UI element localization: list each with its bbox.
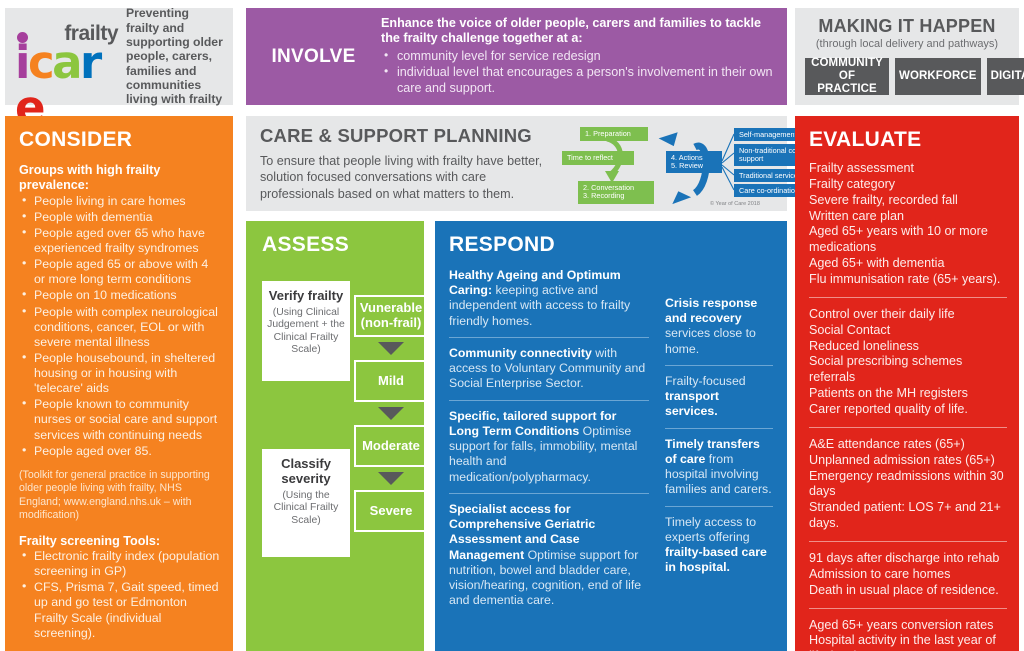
evaluate-group-hospital: A&E attendance rates (65+) Unplanned adm… — [809, 437, 1007, 532]
arrow-down-icon — [378, 407, 404, 420]
list-item: People housebound, in sheltered housing … — [19, 351, 221, 396]
chip-community-of-practice[interactable]: COMMUNITY OF PRACTICE — [805, 58, 889, 95]
list-item: People aged over 85. — [19, 444, 221, 459]
list-item: CFS, Prisma 7, Gait speed, timed up and … — [19, 580, 221, 641]
list-item: People with complex neurological conditi… — [19, 305, 221, 350]
respond-item-timely-transfers: Timely transfers of care from hospital i… — [665, 437, 773, 498]
respond-item-bold: transport services. — [665, 389, 719, 418]
consider-groups-heading: Groups with high frailty prevalence: — [19, 163, 221, 193]
divider — [449, 400, 649, 401]
respond-title: RESPOND — [449, 233, 773, 257]
evaluate-line: Carer reported quality of life. — [809, 402, 1007, 418]
respond-item-bold: Crisis response and recovery — [665, 296, 757, 325]
evaluate-group-discharge: 91 days after discharge into rehab Admis… — [809, 551, 1007, 599]
evaluate-line: Aged 65+ with dementia — [809, 256, 1007, 272]
diagram-copyright: © Year of Care 2018 — [710, 201, 760, 207]
evaluate-group-clinical: Frailty assessment Frailty category Seve… — [809, 161, 1007, 288]
care-support-planning-text: CARE & SUPPORT PLANNING To ensure that p… — [260, 125, 562, 211]
making-it-happen-title: MAKING IT HAPPEN — [805, 16, 1009, 37]
diagram-step-actions-review: 4. Actions 5. Review — [666, 151, 722, 173]
stage-severe: Severe — [354, 490, 428, 532]
list-item: People with dementia — [19, 210, 221, 225]
divider — [665, 428, 773, 429]
stage-vulnerable: Vunerable (non-frail) — [354, 295, 428, 337]
care-support-planning-body: To ensure that people living with frailt… — [260, 153, 560, 202]
respond-item-bold: frailty-based care in hospital. — [665, 545, 767, 574]
evaluate-line: Reduced loneliness — [809, 339, 1007, 355]
list-item: People known to community nurses or soci… — [19, 397, 221, 442]
logo-panel: frailty icare Preventing frailty and sup… — [5, 8, 233, 105]
involve-lead-text: Enhance the voice of older people, carer… — [381, 16, 777, 47]
chip-workforce[interactable]: WORKFORCE — [895, 58, 981, 95]
logo-tagline: Preventing frailty and supporting older … — [126, 6, 225, 107]
involve-bullet: individual level that encourages a perso… — [381, 65, 777, 96]
logo-letter-a: a — [52, 40, 80, 85]
care-support-planning-panel: CARE & SUPPORT PLANNING To ensure that p… — [246, 116, 787, 211]
list-item: People on 10 medications — [19, 288, 221, 303]
evaluate-line: Admission to care homes — [809, 567, 1007, 583]
evaluate-group-conversion: Aged 65+ years conversion rates Hospital… — [809, 618, 1007, 651]
involve-body: Enhance the voice of older people, carer… — [381, 16, 787, 97]
stage-moderate: Moderate — [354, 425, 428, 467]
divider — [809, 608, 1007, 609]
respond-item-healthy-ageing: Healthy Ageing and Optimum Caring: keepi… — [449, 268, 649, 329]
consider-source-note: (Toolkit for general practice in support… — [19, 469, 221, 523]
evaluate-line: Frailty assessment — [809, 161, 1007, 177]
respond-item-text: services close to home. — [665, 326, 756, 355]
list-item: People living in care homes — [19, 194, 221, 209]
list-item: People aged over 65 who have experienced… — [19, 226, 221, 256]
involve-panel: INVOLVE Enhance the voice of older peopl… — [246, 8, 787, 105]
assess-card-title: Verify frailty — [267, 289, 345, 304]
assess-card-subtitle: (Using Clinical Judgement + the Clinical… — [267, 307, 345, 357]
logo-letter-r: r — [80, 40, 100, 85]
evaluate-line: Patients on the MH registers — [809, 386, 1007, 402]
evaluate-line: Severe frailty, recorded fall — [809, 193, 1007, 209]
evaluate-title: EVALUATE — [809, 128, 1007, 152]
involve-bullet: community level for service redesign — [381, 49, 777, 65]
divider — [449, 337, 649, 338]
assess-flow: Verify frailty (Using Clinical Judgement… — [262, 277, 410, 607]
care-planning-cycle-diagram: 1. Preparation Time to reflect 2. Conver… — [562, 125, 787, 211]
respond-item-frailty-based-care: Timely access to experts offering frailt… — [665, 515, 773, 576]
respond-item-pre: Timely access to experts offering — [665, 515, 756, 544]
divider — [809, 541, 1007, 542]
consider-tools-heading: Frailty screening Tools: — [19, 534, 221, 548]
logo-letter-c: c — [28, 40, 52, 85]
evaluate-line: Control over their daily life — [809, 307, 1007, 323]
evaluate-line: Frailty category — [809, 177, 1007, 193]
involve-bullet-list: community level for service redesign ind… — [381, 49, 777, 97]
infographic-page: frailty icare Preventing frailty and sup… — [0, 0, 1024, 651]
evaluate-line: Emergency readmissions within 30 days — [809, 469, 1007, 501]
assess-title: ASSESS — [262, 233, 410, 257]
assess-severity-stages: Vunerable (non-frail) Mild Moderate Seve… — [354, 295, 428, 532]
evaluate-line: Social Contact — [809, 323, 1007, 339]
evaluate-line: A&E attendance rates (65+) — [809, 437, 1007, 453]
respond-panel: RESPOND Healthy Ageing and Optimum Carin… — [435, 221, 787, 651]
divider — [809, 297, 1007, 298]
divider — [809, 427, 1007, 428]
diagram-step-preparation: 1. Preparation — [580, 127, 648, 141]
evaluate-line: Aged 65+ years with 10 or more medicatio… — [809, 224, 1007, 256]
divider — [665, 365, 773, 366]
respond-item-pre: Frailty-focused — [665, 374, 746, 388]
respond-item-bold: Community connectivity — [449, 346, 592, 360]
spacer — [665, 268, 773, 296]
logo-letter-i: i — [15, 40, 28, 85]
respond-column-left: Healthy Ageing and Optimum Caring: keepi… — [449, 268, 649, 608]
evaluate-line: Social prescribing schemes referrals — [809, 354, 1007, 386]
chip-digital[interactable]: DIGITAL — [987, 58, 1024, 95]
respond-item-specialist-access: Specialist access for Comprehensive Geri… — [449, 502, 649, 609]
arrow-down-icon — [378, 342, 404, 355]
assess-card-title: Classify severity — [267, 457, 345, 487]
evaluate-line: Unplanned admission rates (65+) — [809, 453, 1007, 469]
respond-item-long-term-conditions: Specific, tailored support for Long Term… — [449, 409, 649, 485]
diagram-step-conversation-recording: 2. Conversation 3. Recording — [578, 181, 654, 204]
consider-panel: CONSIDER Groups with high frailty preval… — [5, 116, 233, 651]
respond-column-right: Crisis response and recovery services cl… — [665, 268, 773, 608]
consider-tools-list: Electronic frailty index (population scr… — [19, 549, 221, 641]
consider-title: CONSIDER — [19, 128, 221, 152]
evaluate-line: 91 days after discharge into rehab — [809, 551, 1007, 567]
assess-panel: ASSESS Verify frailty (Using Clinical Ju… — [246, 221, 424, 651]
evaluate-line: Hospital activity in the last year of li… — [809, 633, 1007, 651]
assess-card-classify-severity: Classify severity (Using the Clinical Fr… — [262, 449, 350, 557]
making-it-happen-chips: COMMUNITY OF PRACTICE WORKFORCE DIGITAL — [805, 58, 1009, 95]
evaluate-group-wellbeing: Control over their daily life Social Con… — [809, 307, 1007, 418]
list-item: Electronic frailty index (population scr… — [19, 549, 221, 579]
divider — [449, 493, 649, 494]
consider-groups-list: People living in care homes People with … — [19, 194, 221, 459]
icare-logo: frailty icare — [15, 20, 118, 94]
assess-card-subtitle: (Using the Clinical Frailty Scale) — [267, 490, 345, 527]
respond-columns: Healthy Ageing and Optimum Caring: keepi… — [449, 268, 773, 608]
making-it-happen-panel: MAKING IT HAPPEN (through local delivery… — [795, 8, 1019, 105]
header-row: frailty icare Preventing frailty and sup… — [0, 0, 1024, 110]
evaluate-panel: EVALUATE Frailty assessment Frailty cate… — [795, 116, 1019, 651]
evaluate-line: Written care plan — [809, 209, 1007, 225]
divider — [665, 506, 773, 507]
arrow-down-icon — [378, 472, 404, 485]
diagram-time-to-reflect: Time to reflect — [562, 151, 634, 165]
respond-item-community-connectivity: Community connectivity with access to Vo… — [449, 346, 649, 392]
evaluate-line: Aged 65+ years conversion rates — [809, 618, 1007, 634]
respond-item-crisis-response: Crisis response and recovery services cl… — [665, 296, 773, 357]
respond-item-transport-services: Frailty-focused transport services. — [665, 374, 773, 420]
evaluate-line: Flu immunisation rate (65+ years). — [809, 272, 1007, 288]
stage-mild: Mild — [354, 360, 428, 402]
evaluate-line: Death in usual place of residence. — [809, 583, 1007, 599]
list-item: People aged 65 or above with 4 or more l… — [19, 257, 221, 287]
care-support-planning-title: CARE & SUPPORT PLANNING — [260, 125, 562, 147]
involve-title: INVOLVE — [246, 46, 381, 68]
assess-card-verify-frailty: Verify frailty (Using Clinical Judgement… — [262, 281, 350, 381]
making-it-happen-subtitle: (through local delivery and pathways) — [805, 38, 1009, 50]
evaluate-line: Stranded patient: LOS 7+ and 21+ days. — [809, 500, 1007, 532]
